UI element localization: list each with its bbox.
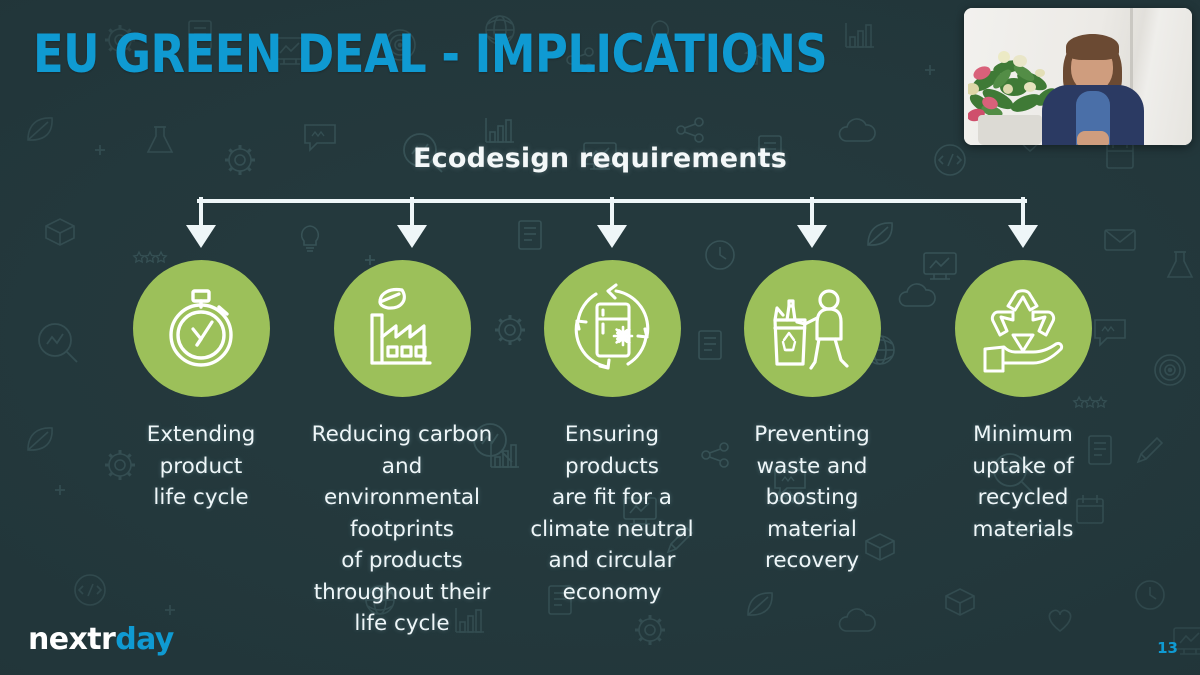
icon-circle	[955, 260, 1092, 397]
item-preventing-waste[interactable]: Preventing waste and boosting material r…	[712, 260, 912, 577]
icon-circle	[334, 260, 471, 397]
logo-text-primary: nextr	[28, 622, 115, 657]
presentation-slide: EU GREEN DEAL - IMPLICATIONS	[0, 0, 1200, 675]
slide-page-number: 13	[1157, 639, 1178, 657]
item-caption: Ensuring products are fit for a climate …	[530, 419, 693, 608]
icon-circle	[133, 260, 270, 397]
page-title: EU GREEN DEAL - IMPLICATIONS	[33, 24, 827, 85]
vase	[978, 115, 1042, 145]
item-caption: Preventing waste and boosting material r…	[754, 419, 869, 577]
hand-recycle-symbol-icon	[977, 283, 1069, 375]
item-extending-product-life-cycle[interactable]: Extending product life cycle	[101, 260, 301, 514]
bracket-connector	[0, 195, 1200, 255]
item-caption: Extending product life cycle	[147, 419, 256, 514]
icon-circle	[744, 260, 881, 397]
item-caption: Reducing carbon and environmental footpr…	[302, 419, 502, 640]
factory-leaf-icon	[358, 285, 446, 373]
stopwatch-icon	[157, 285, 245, 373]
icon-circle	[544, 260, 681, 397]
logo-text-accent: day	[115, 622, 174, 657]
diagram-heading: Ecodesign requirements	[0, 143, 1200, 174]
presenter-video-overlay[interactable]	[964, 8, 1192, 145]
item-recycled-materials-uptake[interactable]: Minimum uptake of recycled materials	[923, 260, 1123, 545]
person-recycling-bin-icon	[767, 284, 857, 374]
nextrday-logo[interactable]: nextrday	[28, 622, 174, 657]
item-climate-neutral-circular-economy[interactable]: Ensuring products are fit for a climate …	[512, 260, 712, 608]
presenter-hair-top	[1066, 34, 1119, 60]
item-caption: Minimum uptake of recycled materials	[972, 419, 1073, 545]
item-reducing-carbon-footprints[interactable]: Reducing carbon and environmental footpr…	[302, 260, 502, 640]
refrigerator-circular-arrows-icon	[566, 283, 658, 375]
